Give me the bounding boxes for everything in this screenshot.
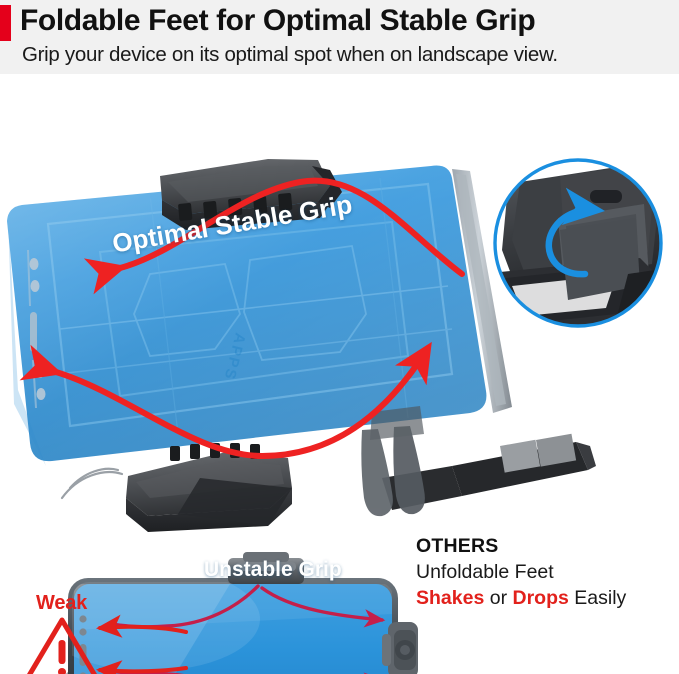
drops-word: Drops (513, 587, 569, 609)
weak-label: Weak (36, 592, 87, 615)
shakes-word: Shakes (416, 587, 484, 609)
accent-bar-icon (0, 5, 11, 41)
others-line-shakes-drops: Shakes or Drops Easily (416, 585, 671, 611)
infographic-root: Foldable Feet for Optimal Stable Grip Gr… (0, 0, 679, 674)
page-subtitle: Grip your device on its optimal spot whe… (22, 41, 558, 69)
or-word: or (490, 587, 507, 609)
inset-detail-circle (495, 160, 668, 336)
top-scene-group: APPS (7, 159, 668, 532)
page-title: Foldable Feet for Optimal Stable Grip (20, 0, 535, 42)
others-heading: OTHERS (416, 534, 671, 559)
others-line-unfoldable: Unfoldable Feet (416, 559, 671, 585)
competitor-clamp-top (228, 552, 304, 584)
header-band: Foldable Feet for Optimal Stable Grip Gr… (0, 0, 679, 74)
others-text-block: OTHERS Unfoldable Feet Shakes or Drops E… (416, 534, 671, 611)
easily-word: Easily (574, 587, 626, 609)
